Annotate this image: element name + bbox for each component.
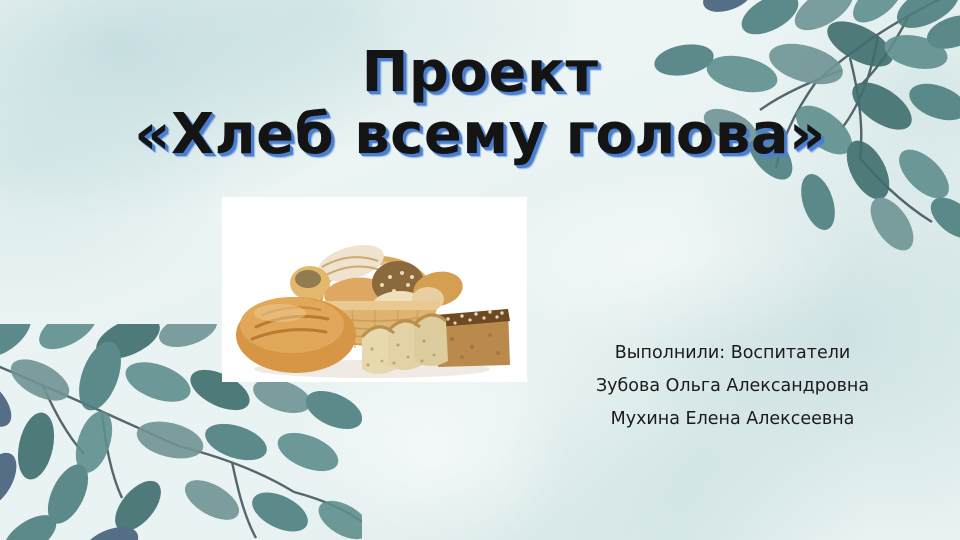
title-line-2: «Хлеб всему голова» [0, 106, 960, 164]
authors-block: Выполнили: Воспитатели Зубова Ольга Алек… [545, 337, 920, 436]
authors-line-3: Мухина Елена Алексеевна [545, 403, 920, 436]
title-line-1: Проект [0, 44, 960, 102]
authors-line-1: Выполнили: Воспитатели [545, 337, 920, 370]
authors-line-2: Зубова Ольга Александровна [545, 370, 920, 403]
bread-basket-photo [222, 197, 527, 382]
presentation-slide: Проект «Хлеб всему голова» [0, 0, 960, 540]
eucalyptus-branch-top-right-icon [610, 0, 960, 268]
slide-title: Проект «Хлеб всему голова» [0, 44, 960, 164]
